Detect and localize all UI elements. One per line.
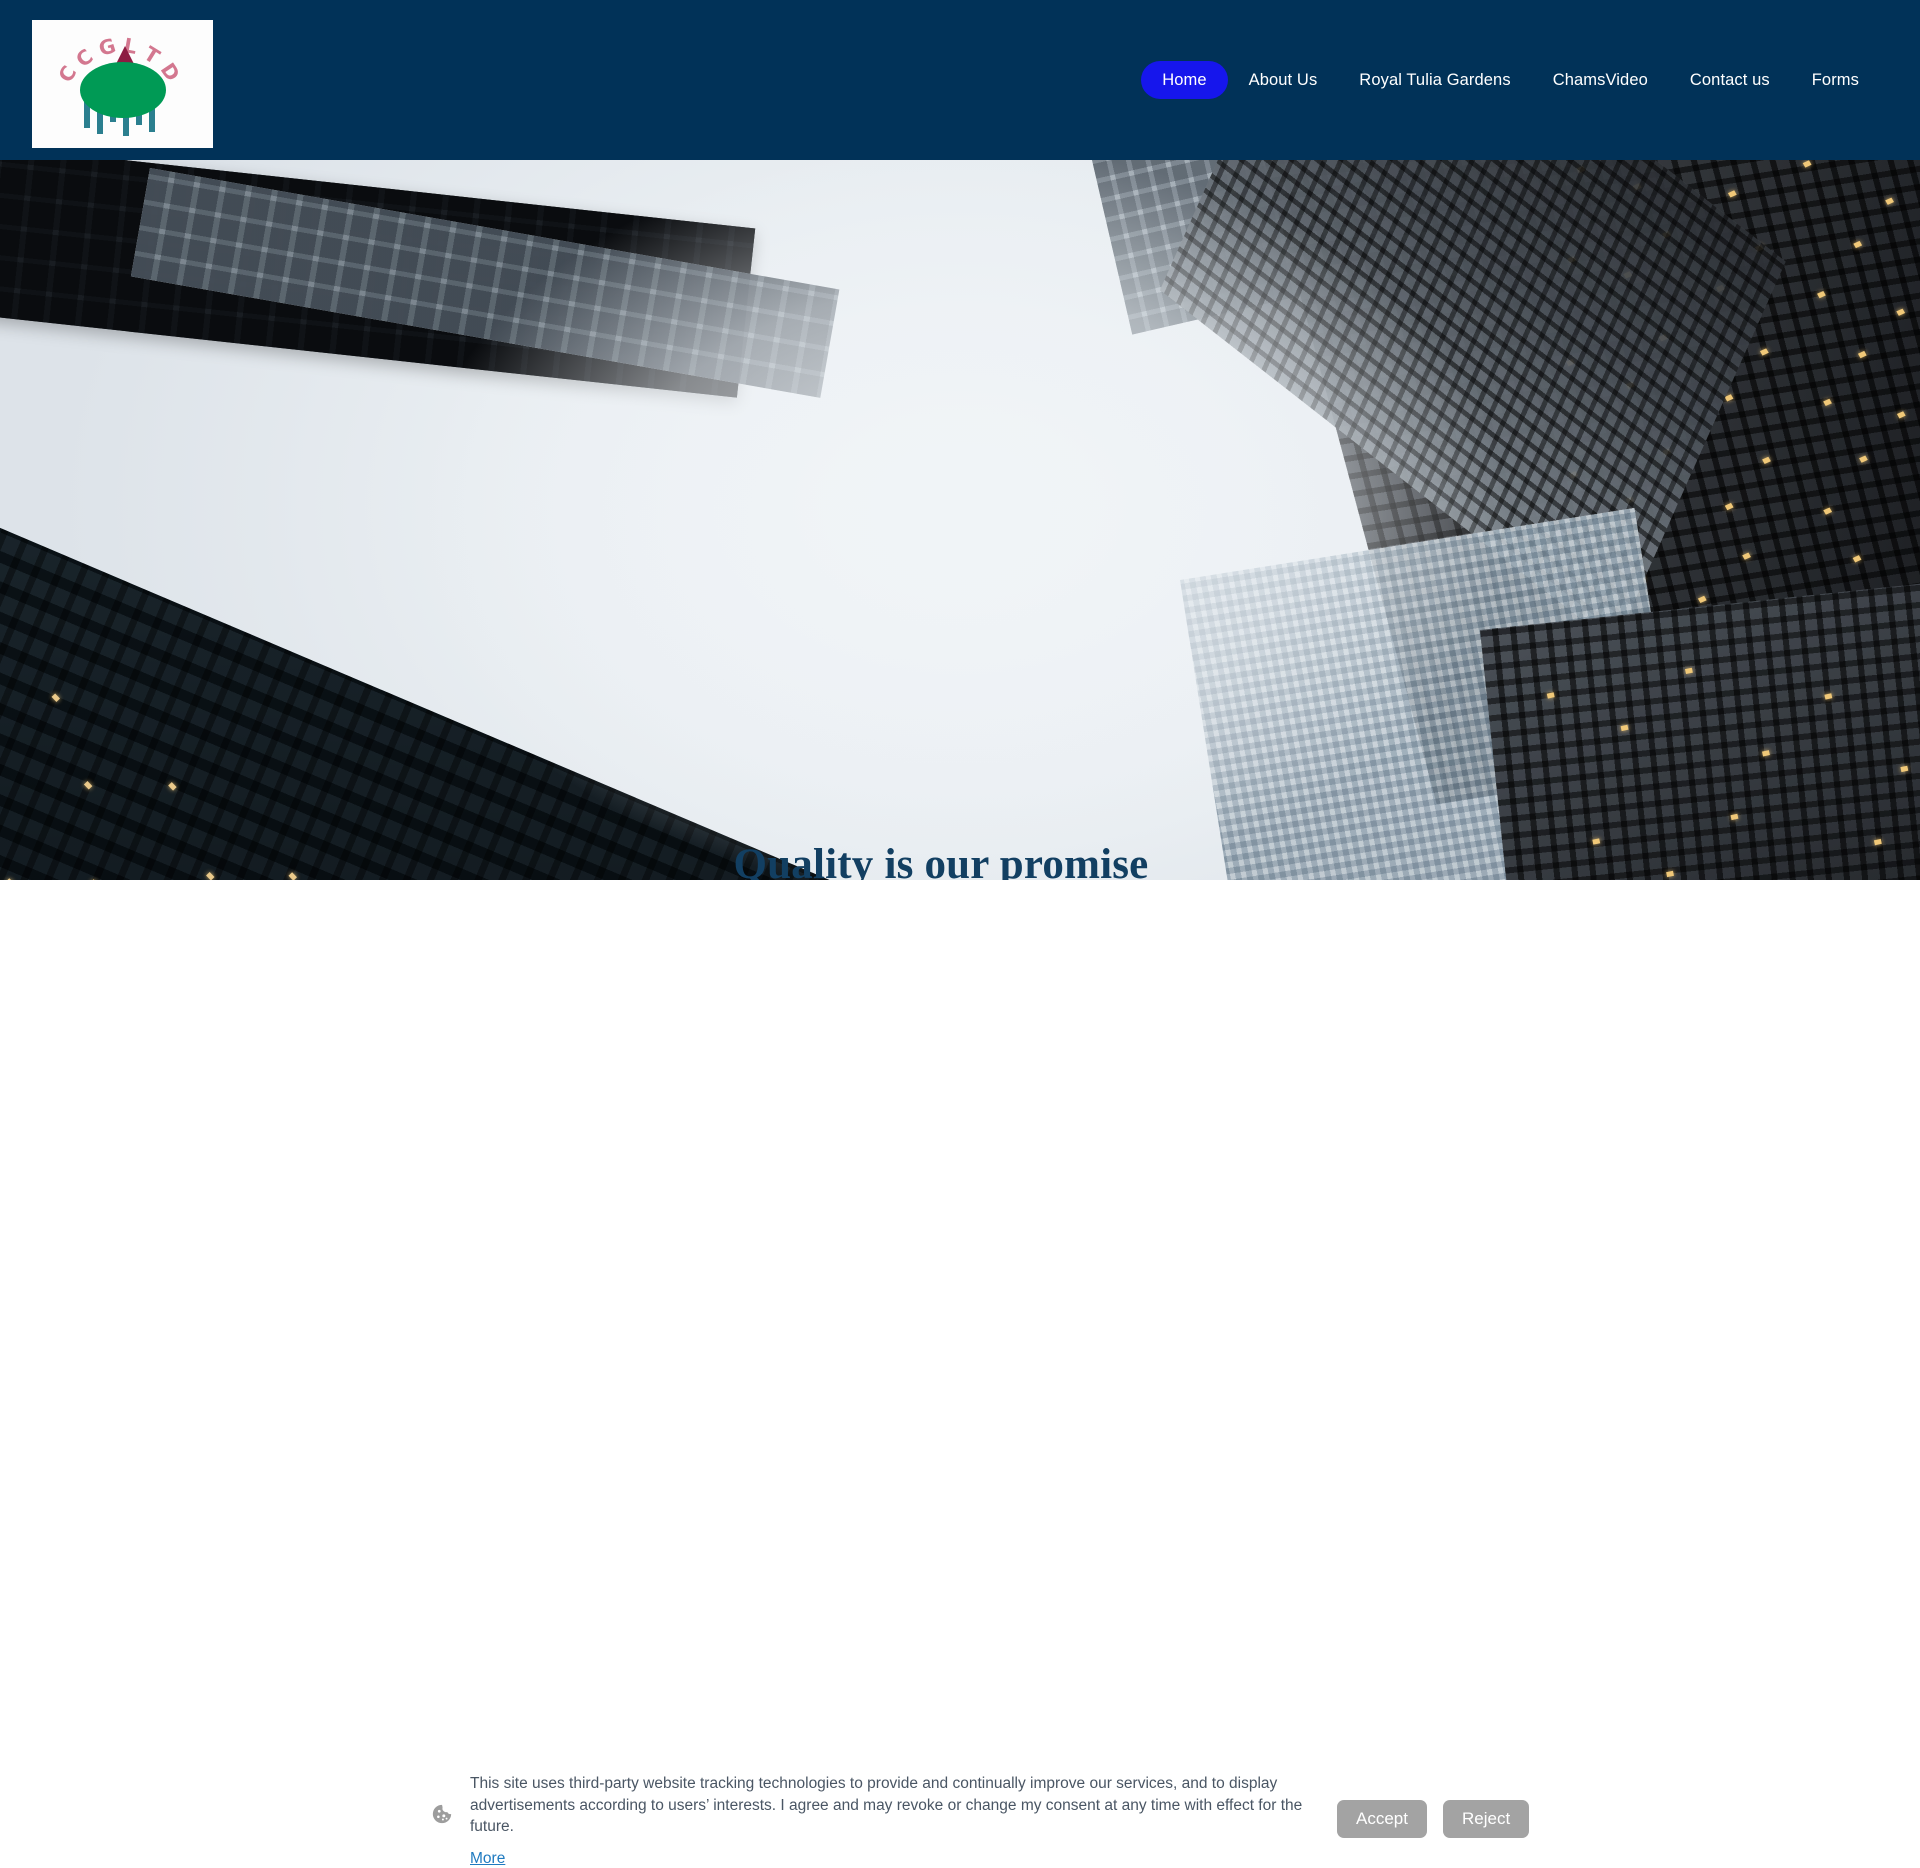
cookie-consent-text: This site uses third-party website track… [470,1773,1310,1838]
cookie-more-link[interactable]: More [470,1850,505,1868]
hero-title: Quality is our promise [0,840,1901,880]
hero-background-image [0,160,1920,880]
nav-item-about-us[interactable]: About Us [1228,61,1339,99]
reject-button[interactable]: Reject [1443,1800,1529,1838]
cookie-actions: Accept Reject [1337,1800,1529,1838]
logo-letter-c2: C [71,44,97,72]
logo[interactable]: C C G L T D [32,20,213,148]
logo-mark: C C G L T D [58,32,188,136]
cookie-text-block: This site uses third-party website track… [470,1773,1310,1868]
hero-section: Quality is our promise [0,160,1920,880]
site-header: C C G L T D Home About Us Royal Tulia Ga… [0,0,1920,160]
logo-ellipse-icon [80,62,166,118]
nav-item-chamsvideo[interactable]: ChamsVideo [1532,61,1669,99]
accept-button[interactable]: Accept [1337,1800,1427,1838]
nav-item-forms[interactable]: Forms [1791,61,1880,99]
nav-item-contact-us[interactable]: Contact us [1669,61,1791,99]
main-navigation[interactable]: Home About Us Royal Tulia Gardens ChamsV… [1141,0,1880,160]
cookie-consent-banner: This site uses third-party website track… [0,880,1920,993]
nav-item-royal-tulia-gardens[interactable]: Royal Tulia Gardens [1338,61,1531,99]
cookie-icon [431,1803,453,1825]
nav-item-home[interactable]: Home [1141,61,1227,99]
logo-letter-c1: C [53,61,81,86]
